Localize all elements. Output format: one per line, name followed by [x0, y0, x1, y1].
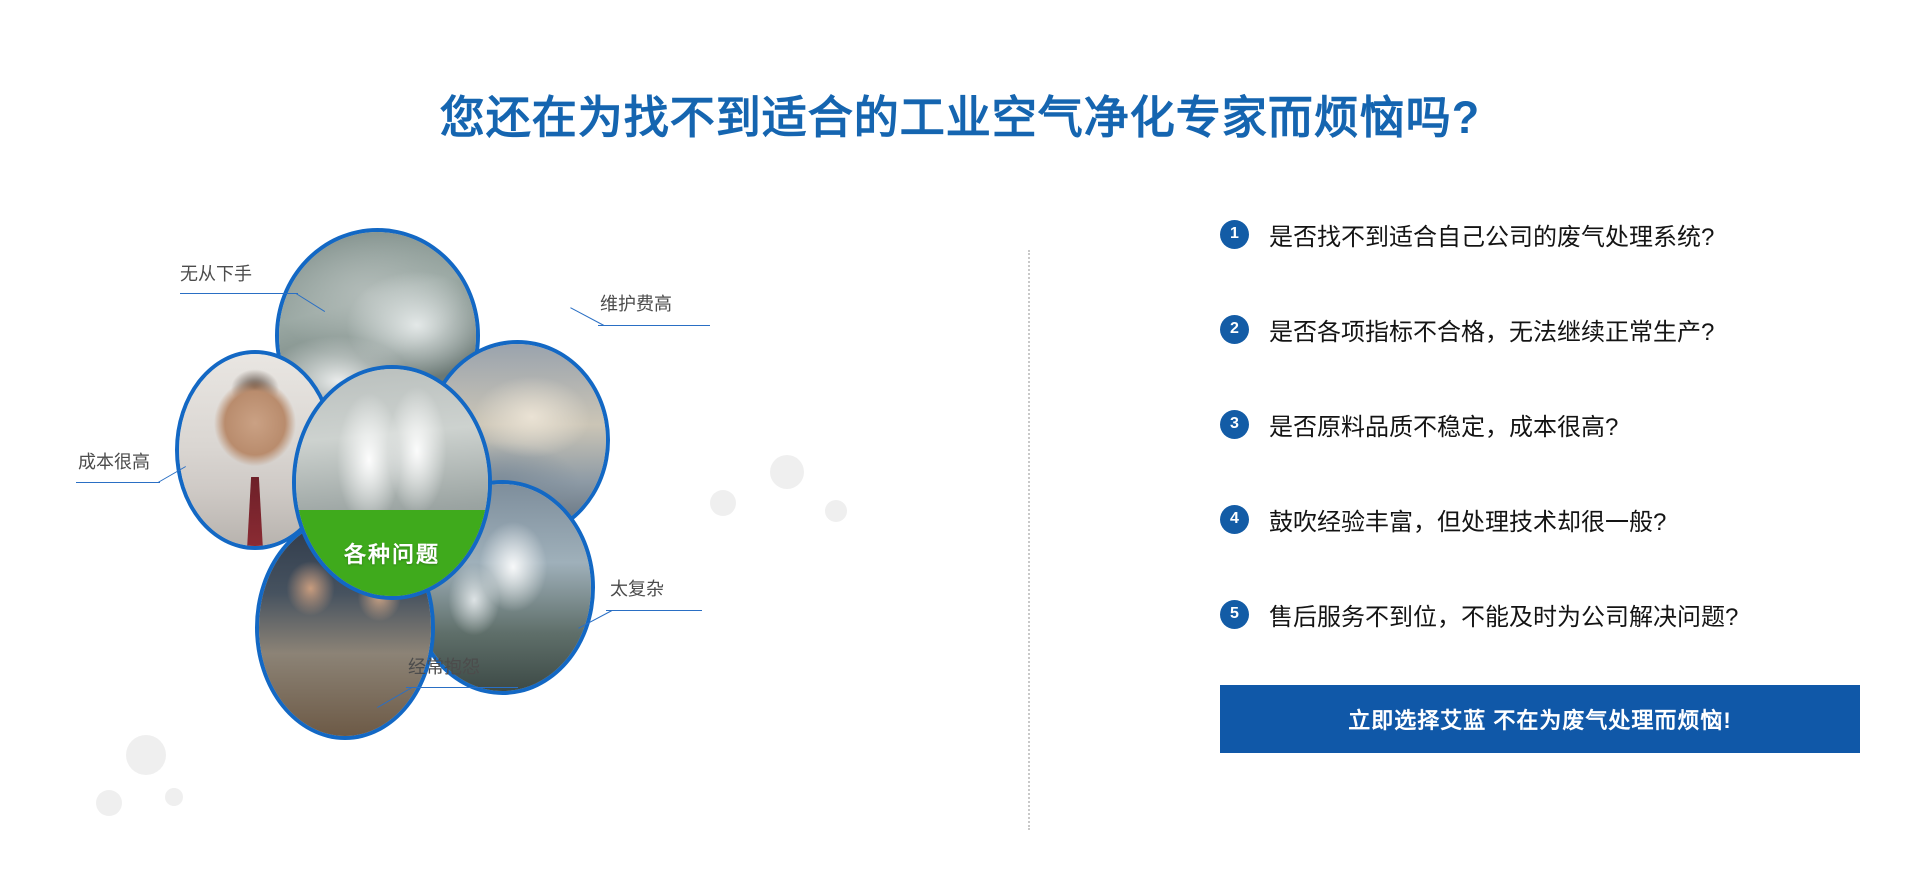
photo-bubble-center-problems: 各种问题 — [292, 365, 492, 600]
content-stage: 各种问题 无从下手 维护费高 成本很高 太复杂 经常抱 — [0, 170, 1920, 875]
callout-label-top-left: 无从下手 — [180, 260, 252, 286]
decorative-dot — [825, 500, 847, 522]
page-title: 您还在为找不到适合的工业空气净化专家而烦恼吗? — [0, 92, 1920, 144]
question-number-badge: 5 — [1220, 600, 1249, 629]
callout-label-bottom: 经常抱怨 — [408, 653, 480, 679]
question-text: 鼓吹经验丰富，但处理技术却很一般? — [1269, 502, 1666, 537]
callout-line — [598, 325, 710, 326]
question-number-badge: 4 — [1220, 505, 1249, 534]
center-label-text: 各种问题 — [344, 537, 440, 569]
decorative-dot — [770, 455, 804, 489]
callout-label-bottom-right: 太复杂 — [610, 575, 664, 601]
question-item: 1 是否找不到适合自己公司的废气处理系统? — [1220, 210, 1860, 258]
cta-label: 立即选择艾蓝 不在为废气处理而烦恼! — [1348, 703, 1731, 735]
question-item: 4 鼓吹经验丰富，但处理技术却很一般? — [1220, 495, 1860, 543]
cta-banner-button[interactable]: 立即选择艾蓝 不在为废气处理而烦恼! — [1220, 685, 1860, 753]
question-number-badge: 2 — [1220, 315, 1249, 344]
decorative-dot — [126, 735, 166, 775]
question-number-badge: 1 — [1220, 220, 1249, 249]
decorative-dot — [165, 788, 183, 806]
question-text: 售后服务不到位，不能及时为公司解决问题? — [1269, 597, 1738, 632]
question-number-badge: 3 — [1220, 410, 1249, 439]
questions-panel: 1 是否找不到适合自己公司的废气处理系统? 2 是否各项指标不合格，无法继续正常… — [1220, 210, 1860, 753]
callout-label-top-right: 维护费高 — [600, 290, 672, 316]
decorative-dot — [96, 790, 122, 816]
callout-label-left: 成本很高 — [78, 448, 150, 474]
question-item: 2 是否各项指标不合格，无法继续正常生产? — [1220, 305, 1860, 353]
callout-line — [76, 482, 160, 483]
question-item: 3 是否原料品质不稳定，成本很高? — [1220, 400, 1860, 448]
question-text: 是否原料品质不稳定，成本很高? — [1269, 407, 1618, 442]
question-text: 是否找不到适合自己公司的废气处理系统? — [1269, 217, 1714, 252]
callout-line — [180, 293, 298, 294]
question-item: 5 售后服务不到位，不能及时为公司解决问题? — [1220, 590, 1860, 638]
question-text: 是否各项指标不合格，无法继续正常生产? — [1269, 312, 1714, 347]
decorative-dot — [710, 490, 736, 516]
center-label-band: 各种问题 — [296, 510, 488, 596]
section-divider — [1028, 250, 1030, 830]
callout-line — [606, 610, 702, 611]
problem-cluster-diagram: 各种问题 无从下手 维护费高 成本很高 太复杂 经常抱 — [70, 190, 970, 850]
callout-line — [406, 687, 518, 688]
